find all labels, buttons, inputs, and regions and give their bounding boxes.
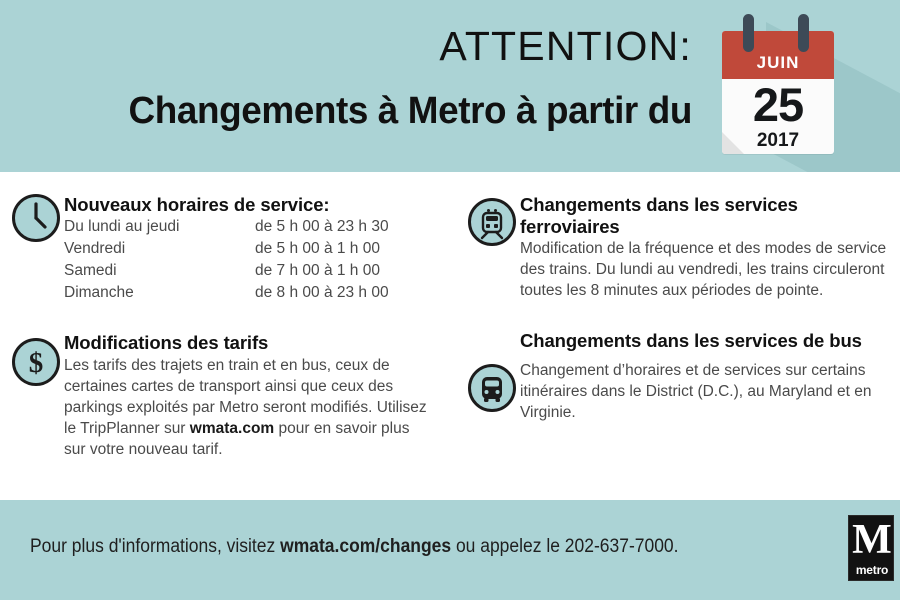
svg-text:$: $ <box>29 347 44 379</box>
table-row: Vendredi de 5 h 00 à 1 h 00 <box>64 239 389 261</box>
footer-text: Pour plus d'informations, visitez wmata.… <box>30 537 679 556</box>
calendar-body: JUIN 25 2017 <box>722 31 834 154</box>
schedule-day: Samedi <box>64 261 255 283</box>
section-title: Modifications des tarifs <box>64 332 432 354</box>
calendar-ring-left <box>743 14 754 52</box>
table-row: Samedi de 7 h 00 à 1 h 00 <box>64 261 389 283</box>
section-body: Modification de la fréquence et des mode… <box>520 238 888 301</box>
section-body: Changement d’horaires et de services sur… <box>520 360 888 423</box>
schedule-hours: de 8 h 00 à 23 h 00 <box>255 283 389 305</box>
attention-eyebrow: ATTENTION: <box>0 26 692 67</box>
calendar-month: JUIN <box>722 54 834 71</box>
calendar-page-fold <box>722 132 744 154</box>
footer-text-before: Pour plus d'informations, visitez <box>30 536 280 557</box>
section-title: Changements dans les services de bus <box>520 330 888 352</box>
header-banner: ATTENTION: Changements à Metro à partir … <box>0 0 900 172</box>
table-row: Dimanche de 8 h 00 à 23 h 00 <box>64 283 389 305</box>
section-title: Nouveaux horaires de service: <box>64 194 432 216</box>
page-title: Changements à Metro à partir du <box>21 92 692 130</box>
metro-logo-letter: M <box>849 519 895 561</box>
section-body: Les tarifs des trajets en train et en bu… <box>64 355 432 460</box>
train-icon <box>468 198 516 246</box>
schedule-hours: de 5 h 00 à 23 h 30 <box>255 217 389 239</box>
calendar-ring-right <box>798 14 809 52</box>
calendar-icon: JUIN 25 2017 <box>722 14 834 154</box>
table-row: Du lundi au jeudi de 5 h 00 à 23 h 30 <box>64 217 389 239</box>
dollar-icon: $ <box>12 338 60 386</box>
main-content: Nouveaux horaires de service: Du lundi a… <box>0 172 900 500</box>
footer-link[interactable]: wmata.com/changes <box>280 536 451 557</box>
clock-icon <box>12 194 60 242</box>
metro-logo-word: metro <box>849 564 895 576</box>
section-title: Changements dans les services ferroviair… <box>520 194 888 237</box>
metro-logo: M metro <box>848 515 894 581</box>
footer-banner: Pour plus d'informations, visitez wmata.… <box>0 500 900 600</box>
schedule-day: Du lundi au jeudi <box>64 217 255 239</box>
bus-icon <box>468 364 516 412</box>
schedule-hours: de 5 h 00 à 1 h 00 <box>255 239 389 261</box>
schedule-hours: de 7 h 00 à 1 h 00 <box>255 261 389 283</box>
footer-text-after: ou appelez le 202-637-7000. <box>451 536 678 557</box>
calendar-day: 25 <box>722 81 834 128</box>
service-hours-table: Du lundi au jeudi de 5 h 00 à 23 h 30 Ve… <box>64 217 389 305</box>
wmata-link[interactable]: wmata.com <box>190 420 274 437</box>
schedule-day: Dimanche <box>64 283 255 305</box>
infographic-poster: ATTENTION: Changements à Metro à partir … <box>0 0 900 600</box>
schedule-day: Vendredi <box>64 239 255 261</box>
